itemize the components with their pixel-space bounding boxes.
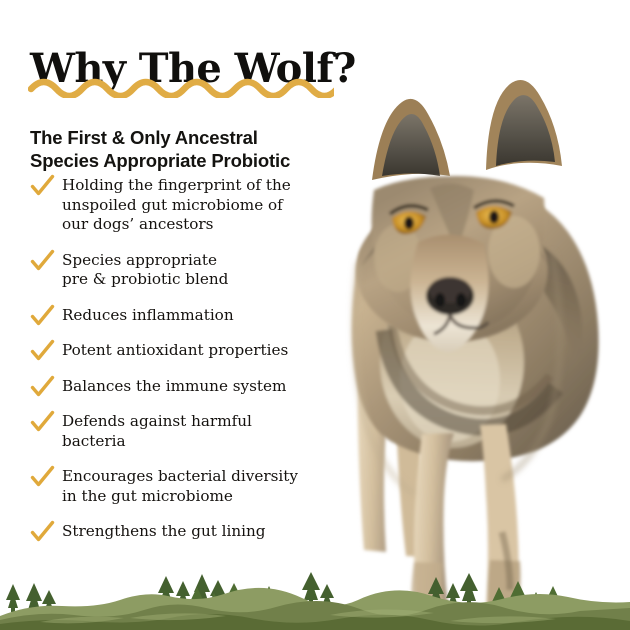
benefit-item: Strengthens the gut lining: [28, 522, 343, 542]
checkmark-icon: [30, 339, 56, 363]
benefit-line: unspoiled gut microbiome of: [62, 196, 343, 216]
benefit-line: Balances the immune system: [62, 377, 343, 397]
gold-wavy-divider-icon: [28, 74, 334, 98]
benefit-line: Holding the fingerprint of the: [62, 176, 343, 196]
subtitle-line-1: The First & Only Ancestral: [30, 127, 340, 150]
benefit-line: Defends against harmful: [62, 412, 343, 432]
wolf-ears: [372, 80, 562, 180]
benefit-line: Reduces inflammation: [62, 306, 343, 326]
benefit-text: Reduces inflammation: [62, 306, 343, 326]
benefit-line: Strengthens the gut lining: [62, 522, 343, 542]
benefit-item: Potent antioxidant properties: [28, 341, 343, 361]
checkmark-icon: [30, 375, 56, 399]
benefit-item: Defends against harmful bacteria: [28, 412, 343, 451]
benefit-text: Strengthens the gut lining: [62, 522, 343, 542]
checkmark-icon: [30, 304, 56, 328]
benefit-line: Potent antioxidant properties: [62, 341, 343, 361]
benefit-line: Species appropriate: [62, 251, 343, 271]
benefit-item: Species appropriate pre & probiotic blen…: [28, 251, 343, 290]
checkmark-icon: [30, 174, 56, 198]
benefit-text: Holding the fingerprint of the unspoiled…: [62, 176, 343, 235]
benefit-text: Balances the immune system: [62, 377, 343, 397]
checkmark-icon: [30, 249, 56, 273]
benefit-line: in the gut microbiome: [62, 487, 343, 507]
benefit-text: Species appropriate pre & probiotic blen…: [62, 251, 343, 290]
benefit-line: pre & probiotic blend: [62, 270, 343, 290]
green-hills-footer: [0, 568, 630, 630]
subtitle: The First & Only Ancestral Species Appro…: [30, 127, 340, 172]
benefit-item: Holding the fingerprint of the unspoiled…: [28, 176, 343, 235]
benefit-text: Encourages bacterial diversity in the gu…: [62, 467, 343, 506]
checkmark-icon: [30, 410, 56, 434]
benefit-line: Encourages bacterial diversity: [62, 467, 343, 487]
benefit-line: bacteria: [62, 432, 343, 452]
benefit-line: our dogs’ ancestors: [62, 215, 343, 235]
benefit-text: Potent antioxidant properties: [62, 341, 343, 361]
subtitle-line-2: Species Appropriate Probiotic: [30, 150, 340, 173]
benefit-text: Defends against harmful bacteria: [62, 412, 343, 451]
why-the-wolf-infographic: Why The Wolf? The First & Only Ancestral…: [0, 0, 630, 630]
checkmark-icon: [30, 520, 56, 544]
benefit-item: Balances the immune system: [28, 377, 343, 397]
content-column: Why The Wolf? The First & Only Ancestral…: [0, 0, 350, 630]
benefit-list: Holding the fingerprint of the unspoiled…: [28, 176, 343, 542]
checkmark-icon: [30, 465, 56, 489]
benefit-item: Reduces inflammation: [28, 306, 343, 326]
benefit-item: Encourages bacterial diversity in the gu…: [28, 467, 343, 506]
